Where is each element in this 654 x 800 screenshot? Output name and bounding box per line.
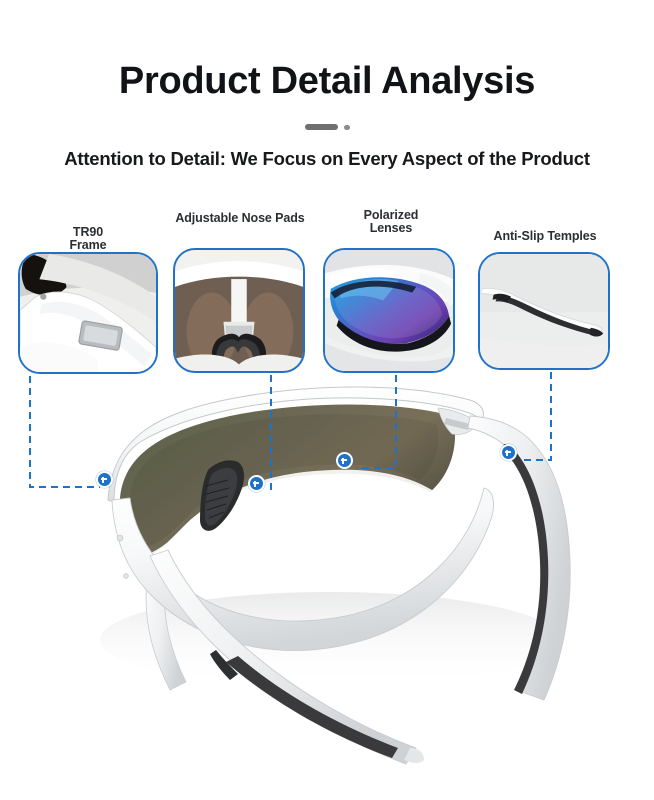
hotspot-marker-tr90-frame[interactable] — [96, 471, 113, 488]
card-label-anti-slip-temples: Anti-Slip Temples — [470, 230, 620, 243]
detail-photo-anti-slip-temples — [480, 254, 608, 368]
card-label-polarized-lenses: Polarized Lenses — [336, 209, 446, 235]
hotspot-marker-adjustable-nose-pads[interactable] — [248, 475, 265, 492]
detail-card-tr90-frame[interactable] — [18, 252, 158, 374]
detail-card-adjustable-nose-pads[interactable] — [173, 248, 305, 373]
detail-card-anti-slip-temples[interactable] — [478, 252, 610, 370]
callout-connectors — [0, 0, 654, 800]
connector-line-adjustable-nose-pads — [268, 375, 271, 491]
detail-photo-adjustable-nose-pads — [175, 250, 303, 371]
hotspot-marker-polarized-lenses[interactable] — [336, 452, 353, 469]
connector-line-anti-slip-temples — [520, 372, 551, 460]
product-detail-infographic: Product Detail Analysis Attention to Det… — [0, 0, 654, 800]
connector-line-tr90-frame — [30, 376, 100, 487]
card-label-tr90-frame: TR90 Frame — [28, 226, 148, 252]
connector-line-polarized-lenses — [356, 375, 396, 468]
detail-photo-tr90-frame — [20, 254, 156, 373]
detail-photo-polarized-lenses — [325, 250, 453, 371]
card-label-adjustable-nose-pads: Adjustable Nose Pads — [155, 212, 325, 225]
hotspot-marker-anti-slip-temples[interactable] — [500, 444, 517, 461]
detail-card-polarized-lenses[interactable] — [323, 248, 455, 373]
